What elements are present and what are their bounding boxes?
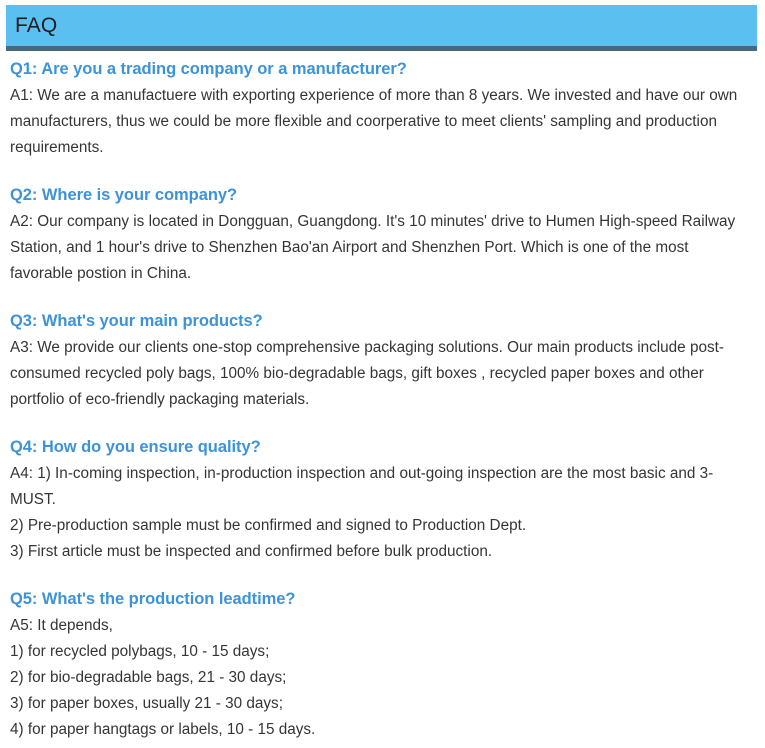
page-title: FAQ: [6, 14, 57, 38]
faq-answer-line: A5: It depends,: [10, 613, 751, 639]
faq-item: Q1: Are you a trading company or a manuf…: [0, 56, 765, 161]
faq-page: FAQ Q1: Are you a trading company or a m…: [0, 0, 765, 748]
faq-header-banner: FAQ: [6, 5, 757, 51]
faq-answer: A4: 1) In-coming inspection, in-producti…: [10, 461, 751, 565]
faq-answer: A1: We are a manufactuere with exporting…: [10, 83, 751, 161]
faq-answer-line: A2: Our company is located in Dongguan, …: [10, 209, 751, 287]
faq-item: Q4: How do you ensure quality?A4: 1) In-…: [0, 434, 765, 565]
faq-list: Q1: Are you a trading company or a manuf…: [0, 56, 765, 743]
faq-question: Q3: What's your main products?: [10, 308, 751, 334]
faq-answer-line: 4) for paper hangtags or labels, 10 - 15…: [10, 717, 751, 743]
faq-question: Q4: How do you ensure quality?: [10, 434, 751, 460]
faq-answer: A3: We provide our clients one-stop comp…: [10, 335, 751, 413]
faq-answer-line: 3) for paper boxes, usually 21 - 30 days…: [10, 691, 751, 717]
faq-answer: A5: It depends,1) for recycled polybags,…: [10, 613, 751, 743]
faq-question: Q1: Are you a trading company or a manuf…: [10, 56, 751, 82]
faq-question: Q2: Where is your company?: [10, 182, 751, 208]
faq-answer-line: A4: 1) In-coming inspection, in-producti…: [10, 461, 751, 513]
faq-answer-line: 3) First article must be inspected and c…: [10, 539, 751, 565]
faq-answer-line: 2) for bio-degradable bags, 21 - 30 days…: [10, 665, 751, 691]
faq-answer-line: A1: We are a manufactuere with exporting…: [10, 83, 751, 161]
faq-item: Q5: What's the production leadtime?A5: I…: [0, 586, 765, 743]
faq-answer-line: 1) for recycled polybags, 10 - 15 days;: [10, 639, 751, 665]
faq-answer-line: A3: We provide our clients one-stop comp…: [10, 335, 751, 413]
faq-question: Q5: What's the production leadtime?: [10, 586, 751, 612]
faq-item: Q2: Where is your company?A2: Our compan…: [0, 182, 765, 287]
faq-answer: A2: Our company is located in Dongguan, …: [10, 209, 751, 287]
faq-item: Q3: What's your main products?A3: We pro…: [0, 308, 765, 413]
faq-answer-line: 2) Pre-production sample must be confirm…: [10, 513, 751, 539]
